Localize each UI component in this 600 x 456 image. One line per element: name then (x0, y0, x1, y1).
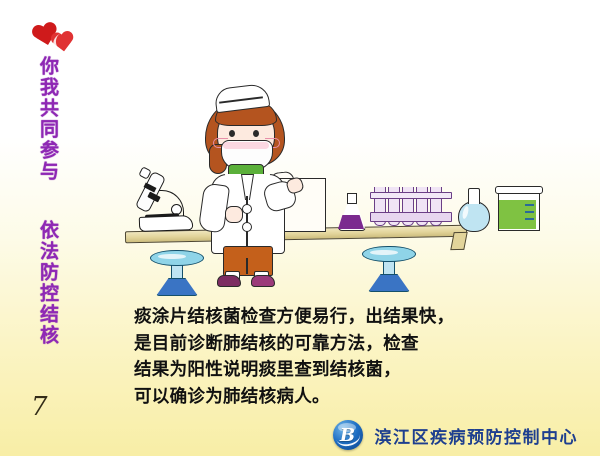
beaker-graduation (525, 204, 534, 206)
erlenmeyer-flask-icon (338, 193, 364, 229)
lab-coat-button (242, 222, 252, 232)
stool-seat-highlight (158, 254, 186, 259)
organization-logo-icon: B (333, 420, 363, 450)
stool-seat-highlight (370, 250, 398, 255)
rack-top-rail (370, 192, 452, 199)
beaker-rim (495, 186, 543, 194)
nurse-shoe-left (217, 275, 241, 287)
organization-name: 滨江区疾病预防控制中心 (375, 423, 579, 448)
test-tube-rack-icon (372, 187, 448, 230)
footer-bar: B 滨江区疾病预防控制中心 (0, 414, 600, 456)
round-flask-neck (468, 188, 480, 204)
beaker-graduation (525, 218, 534, 220)
stool-seat (150, 250, 204, 266)
nurse-hand-left (225, 206, 243, 223)
lab-coat-button (242, 204, 252, 214)
body-text-line: 是目前诊断肺结核的可靠方法，检查 (134, 331, 554, 358)
body-text-line: 结果为阳性说明痰里查到结核菌， (134, 357, 554, 384)
stool-base (156, 278, 198, 296)
body-text-line: 可以确诊为肺结核病人。 (134, 384, 554, 411)
flask-liquid-purple (338, 215, 364, 229)
stool-left (150, 250, 202, 294)
nurse-pants-seam (246, 258, 248, 274)
face-mask-pleat (223, 142, 269, 149)
lab-bench-edge (450, 232, 467, 250)
body-text-line: 痰涂片结核菌检查方便易行，出结果快， (134, 304, 554, 331)
stool-right (362, 246, 414, 290)
stool-base (368, 274, 410, 292)
nurse-eye-left (229, 130, 235, 137)
rack-bottom-rail (370, 212, 452, 222)
logo-letter: B (333, 420, 363, 450)
round-flask-icon (458, 188, 488, 230)
microscope-base (139, 215, 193, 232)
lab-illustration (0, 80, 600, 295)
beaker-icon (498, 184, 538, 230)
nurse-figure (195, 86, 305, 281)
beaker-graduation (525, 211, 534, 213)
body-text-block: 痰涂片结核菌检查方便易行，出结果快， 是目前诊断肺结核的可靠方法，检查 结果为阳… (134, 304, 554, 410)
poster-canvas: 你我共同参与 依法防控结核 (0, 0, 600, 456)
stool-seat (362, 246, 416, 262)
nurse-shoe-right (251, 275, 275, 287)
microscope-icon (131, 172, 203, 230)
nurse-eye-right (253, 130, 259, 137)
